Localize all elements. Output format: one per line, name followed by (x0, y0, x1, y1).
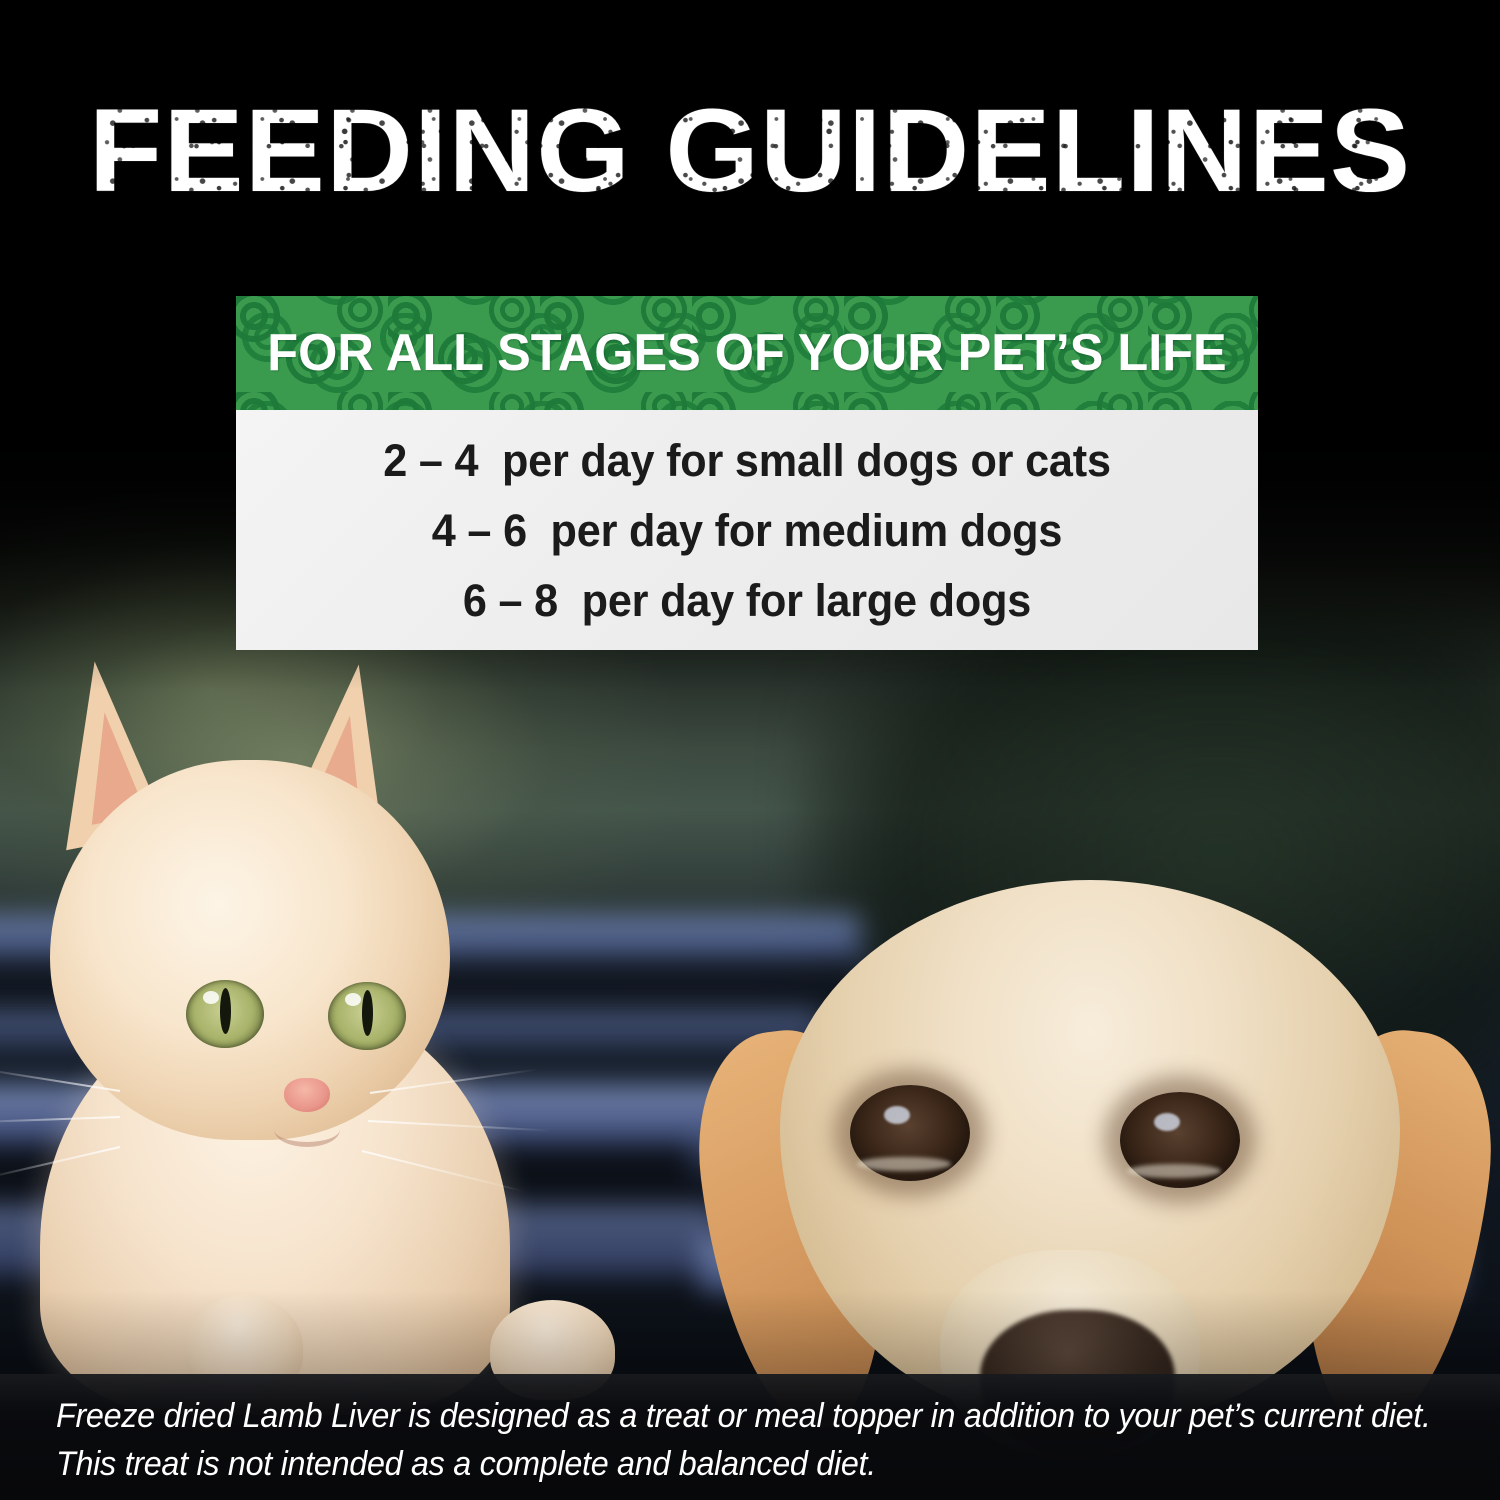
kitten-head (50, 760, 450, 1140)
dog-eye-right (1120, 1092, 1240, 1188)
feeding-line-small: 2 – 4 per day for small dogs or cats (256, 426, 1237, 496)
feeding-line-medium: 4 – 6 per day for medium dogs (256, 496, 1237, 566)
kitten-nose (284, 1078, 330, 1112)
page-title-text: FEEDING GUIDELINES (89, 92, 1411, 210)
life-stages-heading: FOR ALL STAGES OF YOUR PET’S LIFE (251, 296, 1242, 410)
guidelines-card: FOR ALL STAGES OF YOUR PET’S LIFE 2 – 4 … (236, 296, 1258, 650)
page-title: FEEDING GUIDELINES (0, 92, 1500, 210)
kitten-and-dog-photo (0, 0, 1500, 1500)
feeding-amounts-panel: 2 – 4 per day for small dogs or cats 4 –… (236, 410, 1258, 650)
kitten-eye-right (328, 982, 406, 1050)
kitten-mouth (274, 1112, 340, 1147)
life-stages-banner: FOR ALL STAGES OF YOUR PET’S LIFE (236, 296, 1258, 410)
disclaimer-line-2: This treat is not intended as a complete… (56, 1440, 1428, 1488)
feeding-line-large: 6 – 8 per day for large dogs (256, 566, 1237, 636)
kitten-subject (0, 640, 640, 1400)
disclaimer-footer: Freeze dried Lamb Liver is designed as a… (0, 1374, 1500, 1500)
disclaimer-line-1: Freeze dried Lamb Liver is designed as a… (56, 1392, 1428, 1440)
feeding-guidelines-panel: FEEDING GUIDELINES FOR ALL STAGES OF YOU… (0, 0, 1500, 1500)
dog-eye-left (850, 1085, 970, 1181)
kitten-eye-left (186, 980, 264, 1048)
dog-subject (690, 880, 1500, 1420)
kitten-whisker (0, 1067, 120, 1092)
